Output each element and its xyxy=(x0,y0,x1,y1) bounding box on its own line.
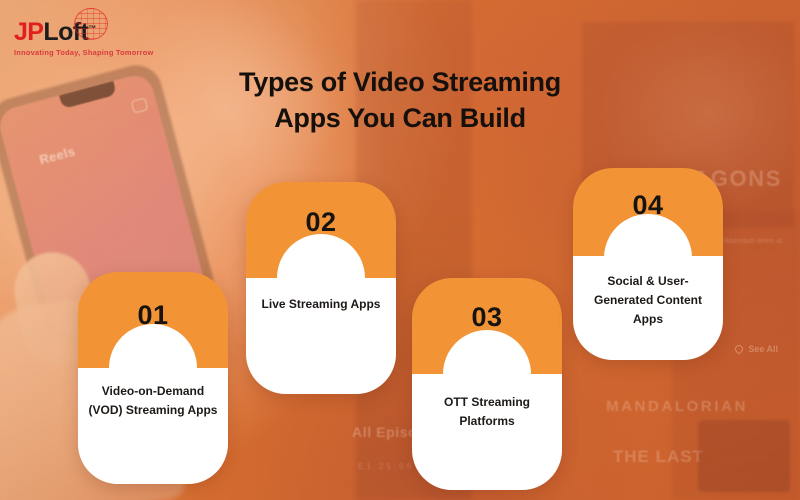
card-02[interactable]: 02 Live Streaming Apps xyxy=(246,182,396,394)
card-04-number: 04 xyxy=(573,190,723,221)
infographic-canvas: Reels AGONS sed Fulvinar et non Bibendum… xyxy=(0,0,800,500)
logo-tagline: Innovating Today, Shaping Tomorrow xyxy=(14,49,153,56)
logo-text-o: o xyxy=(58,20,73,45)
card-01-label: Video-on-Demand (VOD) Streaming Apps xyxy=(87,382,219,420)
card-04[interactable]: 04 Social & User-Generated Content Apps xyxy=(573,168,723,360)
card-01-number: 01 xyxy=(78,300,228,331)
card-01[interactable]: 01 Video-on-Demand (VOD) Streaming Apps xyxy=(78,272,228,484)
jploft-logo[interactable]: JP L o ft ™ Innovating Today, Shaping To… xyxy=(14,20,153,56)
globe-icon xyxy=(74,8,108,40)
page-title: Types of Video Streaming Apps You Can Bu… xyxy=(0,64,800,136)
logo-text-l: L xyxy=(43,20,58,45)
card-02-label: Live Streaming Apps xyxy=(255,295,387,314)
page-title-line-1: Types of Video Streaming xyxy=(0,64,800,100)
card-03-number: 03 xyxy=(412,302,562,333)
page-title-line-2: Apps You Can Build xyxy=(0,100,800,136)
card-03-label: OTT Streaming Platforms xyxy=(421,393,553,431)
card-04-label: Social & User-Generated Content Apps xyxy=(582,272,714,329)
logo-text-jp: JP xyxy=(14,20,43,45)
card-02-number: 02 xyxy=(246,207,396,238)
card-03[interactable]: 03 OTT Streaming Platforms xyxy=(412,278,562,490)
